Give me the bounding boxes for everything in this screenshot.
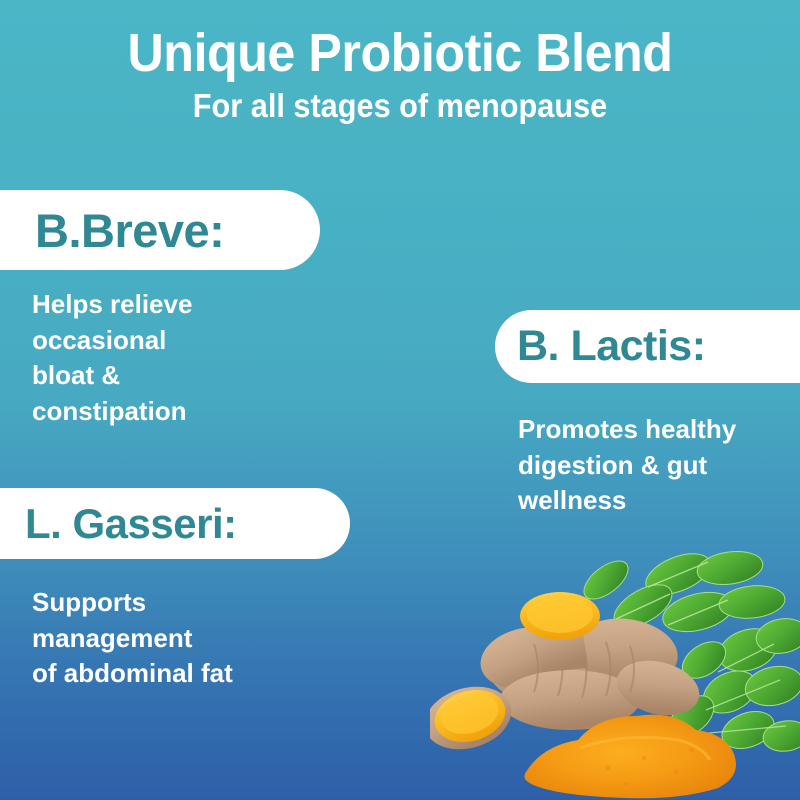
strain-name-b-breve: B.Breve: [35, 203, 224, 258]
strain-description-b-lactis: Promotes healthy digestion & gut wellnes… [518, 412, 793, 519]
strain-pill-l-gasseri: L. Gasseri: [0, 488, 350, 559]
page-subtitle: For all stages of menopause [28, 88, 772, 124]
strain-name-b-lactis: B. Lactis: [517, 322, 706, 371]
turmeric-image [430, 540, 800, 800]
strain-pill-b-lactis: B. Lactis: [495, 310, 800, 383]
strain-description-b-breve: Helps relieve occasional bloat & constip… [32, 287, 332, 429]
probiotic-blend-poster: Unique Probiotic Blend For all stages of… [0, 0, 800, 800]
strain-name-l-gasseri: L. Gasseri: [25, 500, 237, 548]
strain-pill-b-breve: B.Breve: [0, 190, 320, 270]
page-title: Unique Probiotic Blend [28, 24, 772, 82]
poster-header: Unique Probiotic Blend For all stages of… [0, 24, 800, 125]
strain-description-l-gasseri: Supports management of abdominal fat [32, 585, 362, 692]
